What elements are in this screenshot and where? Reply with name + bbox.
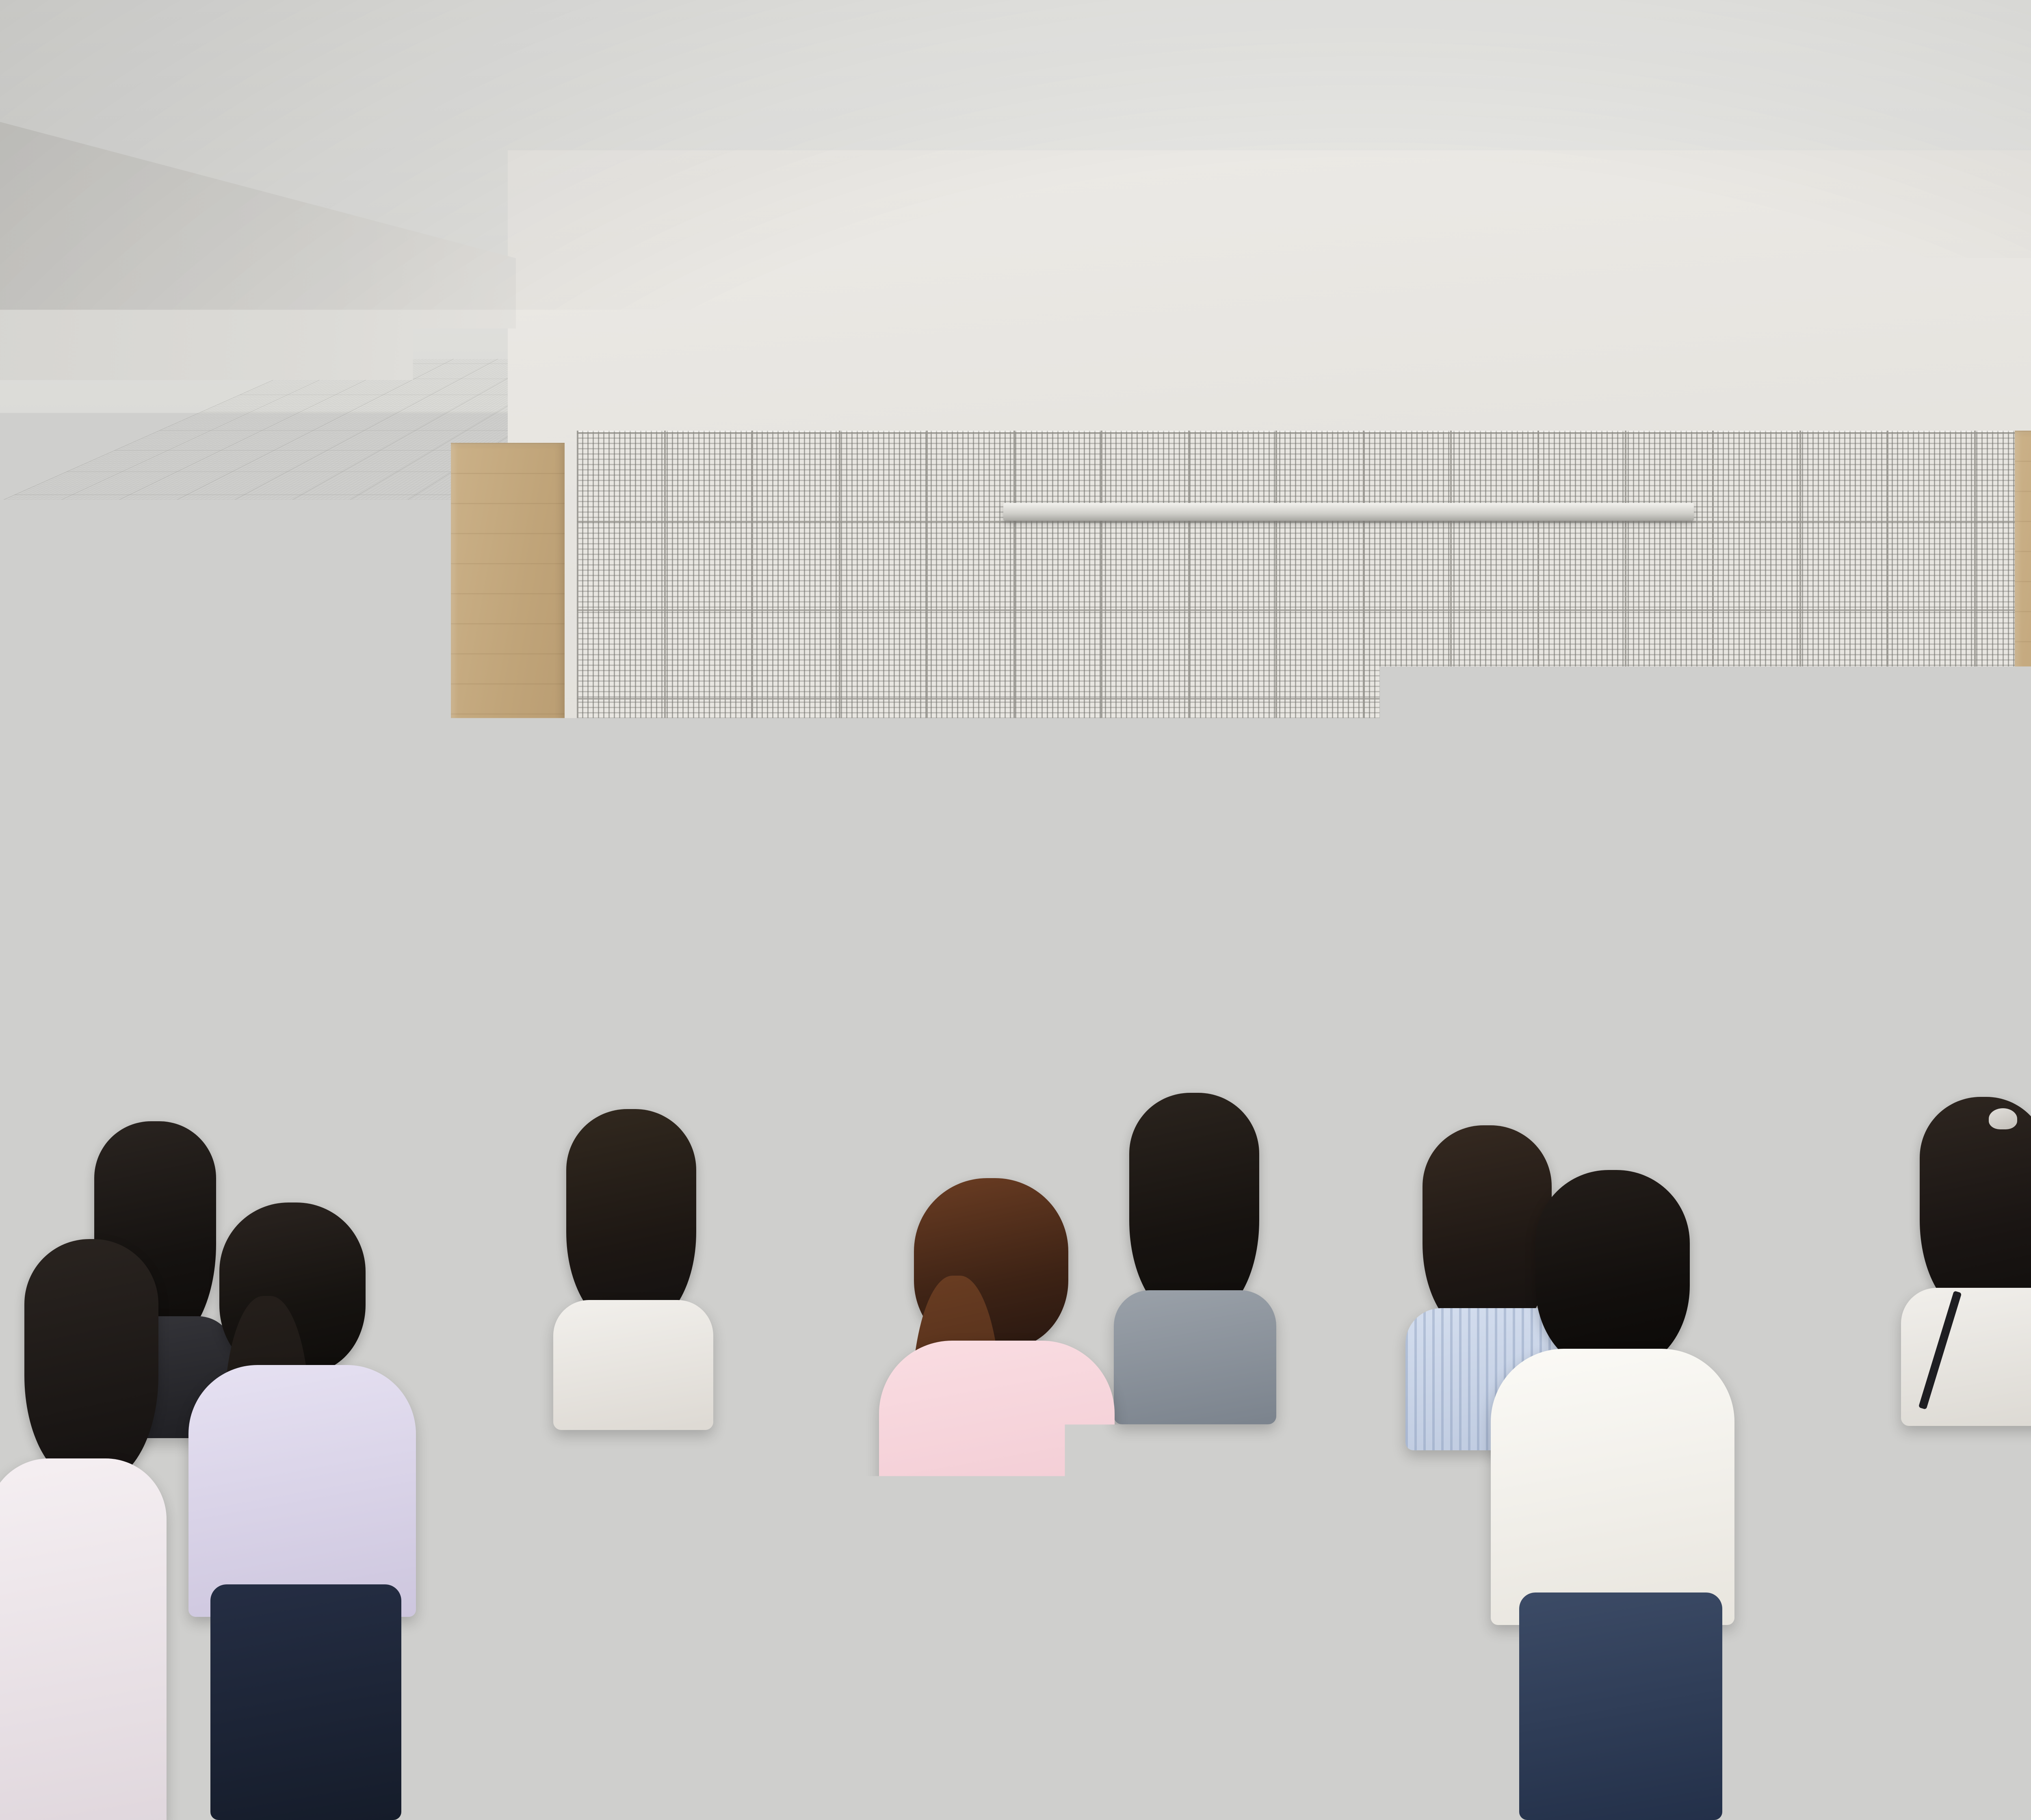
screen-edge-right xyxy=(1672,517,1677,979)
attendee-mid-center xyxy=(1105,1093,1288,1418)
attendee-hair xyxy=(566,1109,696,1328)
attendee-lower-body xyxy=(904,1576,1099,1820)
bus-hanging-strap xyxy=(1226,726,1237,752)
slide-diamond-decoration xyxy=(1432,589,1555,641)
classroom-scene: Panasonic xyxy=(0,0,2031,1820)
recessed-linear-led xyxy=(463,106,726,139)
bus-hanging-strap xyxy=(1388,726,1399,752)
projected-slide: 03.심폐소생술의 목적 < 출근길 심폐소생술 > xyxy=(1100,589,1559,917)
attendee-lower-body xyxy=(1519,1592,1722,1820)
ceiling-projector: Panasonic xyxy=(1389,0,1641,57)
attendee-top xyxy=(1114,1290,1276,1424)
attendee-top xyxy=(553,1300,713,1430)
chair-seat xyxy=(1118,1435,1286,1458)
attendee-front-left-center xyxy=(865,1178,1125,1820)
attendee-top xyxy=(0,1458,167,1820)
attendee-hair xyxy=(1129,1093,1259,1320)
slide-subtitle: < 출근길 심폐소생술 > xyxy=(1119,648,1243,668)
attendee-left-edge xyxy=(0,1239,171,1820)
bus-hanging-strap xyxy=(1357,726,1367,752)
bus-pole xyxy=(1239,724,1245,826)
interpreter-head xyxy=(1418,826,1435,844)
news-caption: '기사님 아저씨가 너무 이상해요' (승객들이) 막 소리를 지르고, 백미러… xyxy=(1176,833,1427,868)
ticker-channel: SBS 제보 xyxy=(1271,870,1298,880)
wall-trim-strip xyxy=(569,1200,2019,1206)
speaker-bracket xyxy=(14,514,66,699)
attendee-back-right xyxy=(1893,1097,2031,1426)
attendee-lower-body xyxy=(210,1584,401,1820)
flagpole-finial xyxy=(587,795,608,818)
projection-screen: 03.심폐소생술의 목적 < 출근길 심폐소생술 > xyxy=(1020,517,1678,979)
hair-accessory-icon xyxy=(1989,1108,2017,1129)
attendee-hair xyxy=(1920,1097,2031,1316)
broadcaster-logo: SBS xyxy=(1420,694,1441,705)
projector-brand-label: Panasonic xyxy=(1465,2,1565,24)
bus-window xyxy=(1410,735,1447,798)
ticker-headline: '골든타임' 빛난 시민들 xyxy=(1176,869,1248,881)
wall-speaker-left xyxy=(14,514,213,699)
recessed-linear-led xyxy=(702,0,1007,35)
speaker-grille xyxy=(82,531,206,682)
slide-news-photo: SBS NEWS 정준철 버스기사 '기사님 아저씨가 너무 이상해요' xyxy=(1141,687,1451,891)
trigram-gam xyxy=(600,991,636,1021)
attendee-front-center xyxy=(1479,1170,1747,1820)
recessed-linear-led xyxy=(1815,90,2031,131)
news-ticker: '골든타임' 빛난 시민들 검색 SBS 제보 ☎ 02-2113-6000 xyxy=(1176,869,1427,882)
interviewee-name: 정준철 xyxy=(1181,821,1202,832)
flagpole-finial xyxy=(1958,797,1978,820)
interviewee-role: 버스기사 xyxy=(1213,821,1241,832)
attendee-top xyxy=(188,1365,416,1617)
attendee-hair xyxy=(1535,1170,1690,1369)
slide-header: 03.심폐소생술의 목적 xyxy=(1100,589,1559,641)
speaker-badge xyxy=(161,681,185,688)
search-pill: 검색 xyxy=(1252,871,1268,879)
sign-language-interpreter-inset xyxy=(1404,820,1448,886)
chair-seat xyxy=(554,1427,734,1450)
projector-lens xyxy=(1485,41,1546,58)
caption-line-1: '기사님 아저씨가 너무 이상해요' (승객들이) 막 소리를 지르고, xyxy=(1181,836,1423,849)
projector-sticker xyxy=(1565,0,1626,28)
recessed-linear-led xyxy=(140,67,465,108)
phone-icon: ☎ xyxy=(1302,871,1310,879)
slide-footer-bar xyxy=(1100,906,1559,917)
news-channel-logo: NEWS xyxy=(1152,848,1173,880)
wood-pillar xyxy=(2015,431,2031,1129)
attendee-back-left-center xyxy=(544,1109,723,1430)
interviewee-name-bar: 정준철 버스기사 xyxy=(1176,819,1278,833)
chair-seat xyxy=(1899,1443,2031,1467)
attendee-top xyxy=(879,1341,1115,1609)
interpreter-body xyxy=(1410,843,1442,886)
eyeglasses-icon xyxy=(1262,762,1323,776)
attendee-hair xyxy=(24,1239,158,1483)
name-divider xyxy=(1207,822,1208,830)
ticker-phone: 02-2113-6000 xyxy=(1314,872,1354,880)
attendee-top xyxy=(1491,1349,1734,1625)
bus-handrail xyxy=(1189,721,1408,728)
attendee-front-left xyxy=(175,1202,427,1820)
ticker-contact: 검색 SBS 제보 ☎ 02-2113-6000 xyxy=(1248,869,1427,882)
bus-window xyxy=(1146,734,1185,795)
caption-line-2: 백미러(뒷거울)로 확인해 보니까 너무 처지고 그래서 xyxy=(1181,848,1423,861)
screen-edge-left xyxy=(1020,517,1025,975)
slide-title: 03.심폐소생술의 목적 xyxy=(1116,597,1331,633)
